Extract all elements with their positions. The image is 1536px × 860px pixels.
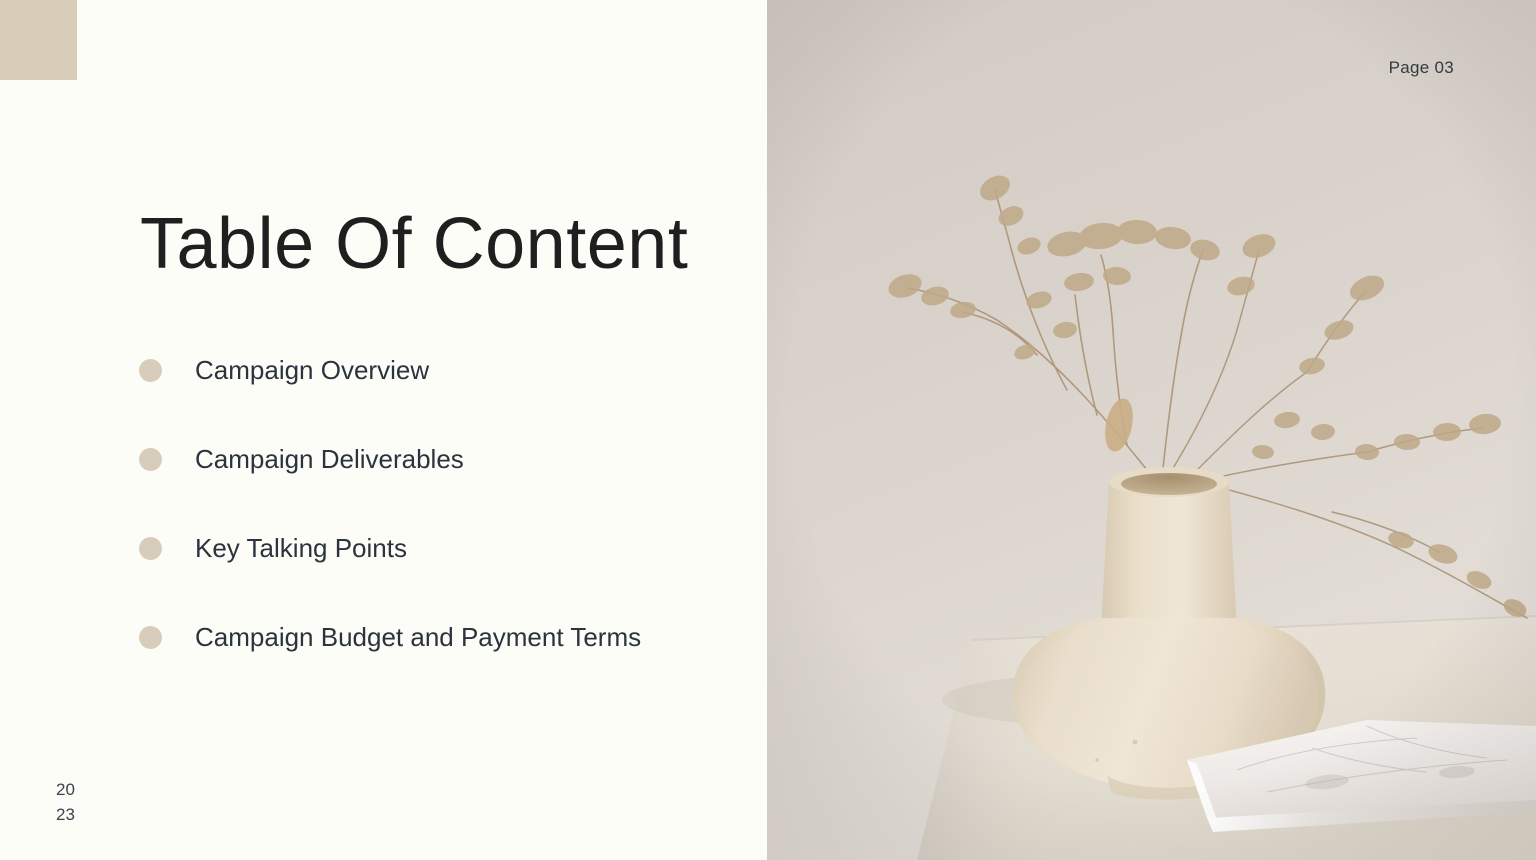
bullet-circle-icon xyxy=(139,359,162,382)
presentation-slide: Table Of Content Campaign Overview Campa… xyxy=(0,0,1536,860)
list-item[interactable]: Campaign Budget and Payment Terms xyxy=(139,611,739,663)
table-of-contents-list: Campaign Overview Campaign Deliverables … xyxy=(139,344,739,700)
photo-panel: Page 03 xyxy=(767,0,1536,860)
vase-still-life-photo xyxy=(767,0,1536,860)
year-line-bottom: 23 xyxy=(56,803,75,828)
list-item[interactable]: Key Talking Points xyxy=(139,522,739,574)
list-item-label: Campaign Deliverables xyxy=(195,444,464,475)
list-item-label: Key Talking Points xyxy=(195,533,407,564)
list-item-label: Campaign Budget and Payment Terms xyxy=(195,622,641,653)
corner-accent-square xyxy=(0,0,77,80)
list-item[interactable]: Campaign Deliverables xyxy=(139,433,739,485)
page-title: Table Of Content xyxy=(140,208,688,280)
bullet-circle-icon xyxy=(139,626,162,649)
left-content-panel: Table Of Content Campaign Overview Campa… xyxy=(0,0,767,860)
bullet-circle-icon xyxy=(139,448,162,471)
year-line-top: 20 xyxy=(56,778,75,803)
year-mark: 20 23 xyxy=(56,778,75,827)
list-item[interactable]: Campaign Overview xyxy=(139,344,739,396)
bullet-circle-icon xyxy=(139,537,162,560)
page-number-label: Page 03 xyxy=(1389,58,1454,78)
list-item-label: Campaign Overview xyxy=(195,355,429,386)
